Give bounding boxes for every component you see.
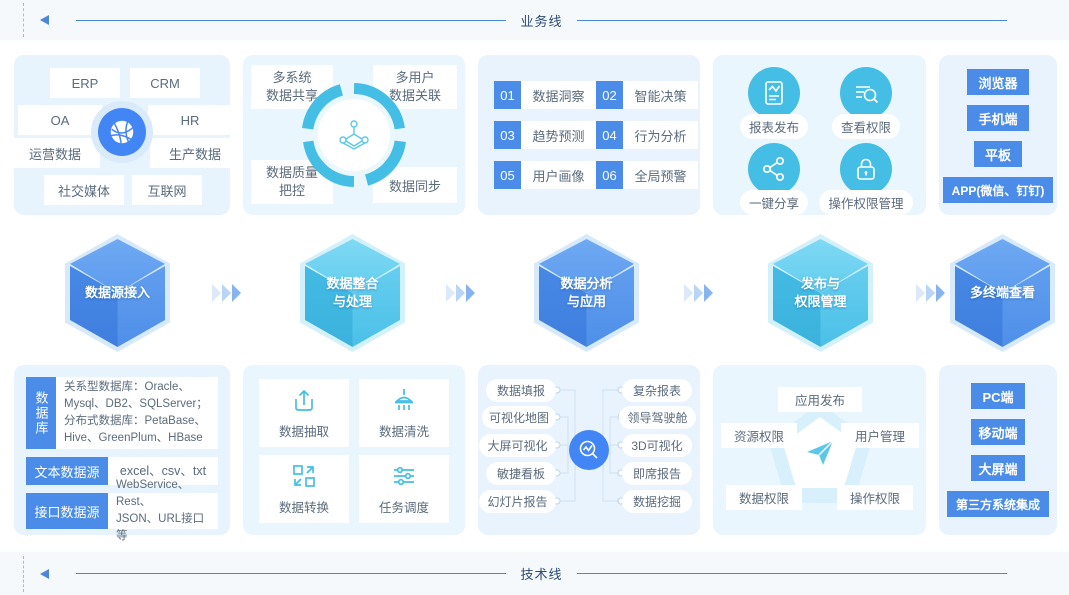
flow-step-label: 数据整合 与处理 xyxy=(300,234,405,352)
source-tag-oa[interactable]: OA xyxy=(18,105,102,135)
flow-step-label: 数据分析 与应用 xyxy=(534,234,639,352)
source-tag-internet[interactable]: 互联网 xyxy=(132,175,202,205)
source-tag-erp[interactable]: ERP xyxy=(50,68,120,98)
flow-arrow-4 xyxy=(916,284,945,302)
left-arrow-icon xyxy=(40,15,49,25)
datasource-side-label: 接口数据源 xyxy=(26,493,108,529)
etl-cell-label: 数据转换 xyxy=(279,497,329,516)
globe-network-icon xyxy=(98,108,146,156)
sources-panel: ERP CRM OA HR 运营数据 生产数据 社交媒体 互联网 xyxy=(14,55,230,215)
datasource-panel: 数据库 关系型数据库：Oracle、 Mysql、DB2、SQLServer； … xyxy=(14,365,230,535)
analysis-number: 05 xyxy=(494,161,521,189)
analysis-item-4[interactable]: 04 行为分析 xyxy=(596,121,698,149)
lock-icon xyxy=(840,143,892,195)
technology-line-label: 技术线 xyxy=(506,564,576,583)
analysis-number: 06 xyxy=(596,161,623,189)
publish-item-opperm[interactable]: 操作权限管理 xyxy=(818,143,914,215)
etl-cell-clean[interactable]: 数据清洗 xyxy=(359,379,449,447)
mindmap-right-3[interactable]: 3D可视化 xyxy=(622,434,692,457)
left-arrow-icon xyxy=(40,569,49,579)
flow-step-label: 发布与 权限管理 xyxy=(768,234,873,352)
mindmap-panel: 数据填报 可视化地图 大屏可视化 敏捷看板 幻灯片报告 复杂报表 领导驾驶舱 3… xyxy=(478,365,700,535)
datasource-body: WebService、Rest、 JSON、URL接口等 xyxy=(108,493,218,529)
etl-cell-label: 任务调度 xyxy=(379,497,429,516)
client-chip-mobile[interactable]: 移动端 xyxy=(971,419,1025,445)
client-chip-bigscreen[interactable]: 大屏端 xyxy=(971,455,1025,481)
analysis-label: 数据洞察 xyxy=(521,81,596,109)
broom-clean-icon xyxy=(390,386,418,414)
analysis-label: 智能决策 xyxy=(623,81,698,109)
permission-item-user[interactable]: 用户管理 xyxy=(841,423,919,448)
publish-item-share[interactable]: 一键分享 xyxy=(726,143,822,215)
terminal-panel: 浏览器 手机端 平板 APP(微信、钉钉) xyxy=(939,55,1057,215)
analysis-number: 04 xyxy=(596,121,623,149)
search-list-icon xyxy=(840,67,892,119)
permission-item-operation[interactable]: 操作权限 xyxy=(837,485,913,510)
mindmap-right-2[interactable]: 领导驾驶舱 xyxy=(619,406,696,429)
publish-panel: 报表发布 查看权限 一键分享 xyxy=(713,55,926,215)
flow-step-label: 数据源接入 xyxy=(65,234,170,352)
datasource-block-database[interactable]: 数据库 关系型数据库：Oracle、 Mysql、DB2、SQLServer； … xyxy=(26,377,218,449)
chart-search-icon xyxy=(569,430,609,470)
source-tag-production[interactable]: 生产数据 xyxy=(150,138,240,168)
datasource-side-label: 文本数据源 xyxy=(26,457,108,485)
mindmap-right-1[interactable]: 复杂报表 xyxy=(622,379,692,402)
infographic-stage: 业务线 ERP CRM OA HR 运营数据 生产数据 社交媒体 互联网 多系统… xyxy=(0,0,1069,595)
permission-item-apppublish[interactable]: 应用发布 xyxy=(778,387,862,412)
terminal-chip-tablet[interactable]: 平板 xyxy=(974,141,1022,167)
etl-cell-transform[interactable]: 数据转换 xyxy=(259,455,349,523)
terminal-chip-mobile[interactable]: 手机端 xyxy=(967,105,1029,131)
analysis-label: 趋势预测 xyxy=(521,121,596,149)
upload-box-icon xyxy=(290,386,318,414)
flow-arrow-3 xyxy=(684,284,713,302)
analysis-item-2[interactable]: 02 智能决策 xyxy=(596,81,698,109)
publish-item-label: 操作权限管理 xyxy=(819,190,912,215)
mindmap-left-5[interactable]: 幻灯片报告 xyxy=(479,490,556,513)
datasource-side-label: 数据库 xyxy=(26,377,56,449)
technology-line-banner: 技术线 xyxy=(0,552,1069,595)
etl-panel: 数据抽取 数据清洗 数据转换 xyxy=(243,365,465,535)
permission-item-data[interactable]: 数据权限 xyxy=(726,485,802,510)
dashed-divider-bottom xyxy=(23,556,24,592)
analysis-number: 03 xyxy=(494,121,521,149)
datasource-body: 关系型数据库：Oracle、 Mysql、DB2、SQLServer； 分布式数… xyxy=(56,377,218,449)
analysis-item-6[interactable]: 06 全局预警 xyxy=(596,161,698,189)
business-line-label: 业务线 xyxy=(506,11,576,30)
source-tag-crm[interactable]: CRM xyxy=(130,68,200,98)
analysis-item-5[interactable]: 05 用户画像 xyxy=(494,161,596,189)
permission-item-resource[interactable]: 资源权限 xyxy=(721,423,797,448)
integration-panel: 多系统数据共享 多用户数据关联 数据质量把控 数据同步 xyxy=(243,55,465,215)
publish-item-label: 查看权限 xyxy=(832,114,900,139)
analysis-label: 全局预警 xyxy=(623,161,698,189)
terminal-chip-app[interactable]: APP(微信、钉钉) xyxy=(943,177,1053,203)
banner-line-left xyxy=(76,20,506,21)
flow-step-1[interactable]: 数据源接入 xyxy=(65,234,170,352)
client-chip-pc[interactable]: PC端 xyxy=(971,383,1025,409)
publish-item-label: 报表发布 xyxy=(740,114,808,139)
etl-cell-schedule[interactable]: 任务调度 xyxy=(359,455,449,523)
flow-step-2[interactable]: 数据整合 与处理 xyxy=(300,234,405,352)
flow-step-5[interactable]: 多终端查看 xyxy=(950,234,1055,352)
mindmap-right-4[interactable]: 即席报告 xyxy=(622,462,692,485)
flow-step-3[interactable]: 数据分析 与应用 xyxy=(534,234,639,352)
analysis-panel: 01 数据洞察 02 智能决策 03 趋势预测 04 行为分析 05 用户画像 … xyxy=(478,55,700,215)
flow-step-label: 多终端查看 xyxy=(950,234,1055,352)
sliders-schedule-icon xyxy=(390,462,418,490)
analysis-label: 行为分析 xyxy=(623,121,698,149)
datasource-block-api[interactable]: 接口数据源 WebService、Rest、 JSON、URL接口等 xyxy=(26,493,218,529)
analysis-item-3[interactable]: 03 趋势预测 xyxy=(494,121,596,149)
dashed-divider-top xyxy=(23,3,24,37)
client-panel: PC端 移动端 大屏端 第三方系统集成 xyxy=(939,365,1057,535)
publish-item-viewperm[interactable]: 查看权限 xyxy=(818,67,914,139)
mindmap-left-4[interactable]: 敏捷看板 xyxy=(486,462,556,485)
banner-line-right xyxy=(577,20,1007,21)
analysis-number: 01 xyxy=(494,81,521,109)
banner-line-left xyxy=(76,573,506,574)
publish-item-report[interactable]: 报表发布 xyxy=(726,67,822,139)
etl-cell-label: 数据抽取 xyxy=(279,421,329,440)
data-node-icon xyxy=(318,99,390,171)
analysis-item-1[interactable]: 01 数据洞察 xyxy=(494,81,596,109)
analysis-number: 02 xyxy=(596,81,623,109)
source-tag-operations[interactable]: 运营数据 xyxy=(10,138,100,168)
share-icon xyxy=(748,143,800,195)
mindmap-left-2[interactable]: 可视化地图 xyxy=(482,406,556,429)
etl-cell-label: 数据清洗 xyxy=(379,421,429,440)
flow-step-4[interactable]: 发布与 权限管理 xyxy=(768,234,873,352)
integration-donut-chart xyxy=(300,81,408,189)
mindmap-left-3[interactable]: 大屏可视化 xyxy=(479,434,556,457)
banner-line-right xyxy=(577,573,1007,574)
mindmap-left-1[interactable]: 数据填报 xyxy=(486,379,556,402)
source-tag-hr[interactable]: HR xyxy=(148,105,232,135)
etl-cell-extract[interactable]: 数据抽取 xyxy=(259,379,349,447)
business-line-banner: 业务线 xyxy=(0,0,1069,40)
source-tag-social[interactable]: 社交媒体 xyxy=(44,175,124,205)
analysis-label: 用户画像 xyxy=(521,161,596,189)
globe-icon-wrapper xyxy=(91,101,153,163)
report-document-icon xyxy=(748,67,800,119)
publish-item-label: 一键分享 xyxy=(740,190,808,215)
client-chip-thirdparty[interactable]: 第三方系统集成 xyxy=(947,491,1049,517)
mindmap-right-5[interactable]: 数据挖掘 xyxy=(622,490,692,513)
terminal-chip-browser[interactable]: 浏览器 xyxy=(967,69,1029,95)
flow-arrow-2 xyxy=(446,284,475,302)
flow-arrow-1 xyxy=(212,284,241,302)
transform-swap-icon xyxy=(290,462,318,490)
permission-panel: 应用发布 资源权限 用户管理 数据权限 操作权限 xyxy=(713,365,926,535)
